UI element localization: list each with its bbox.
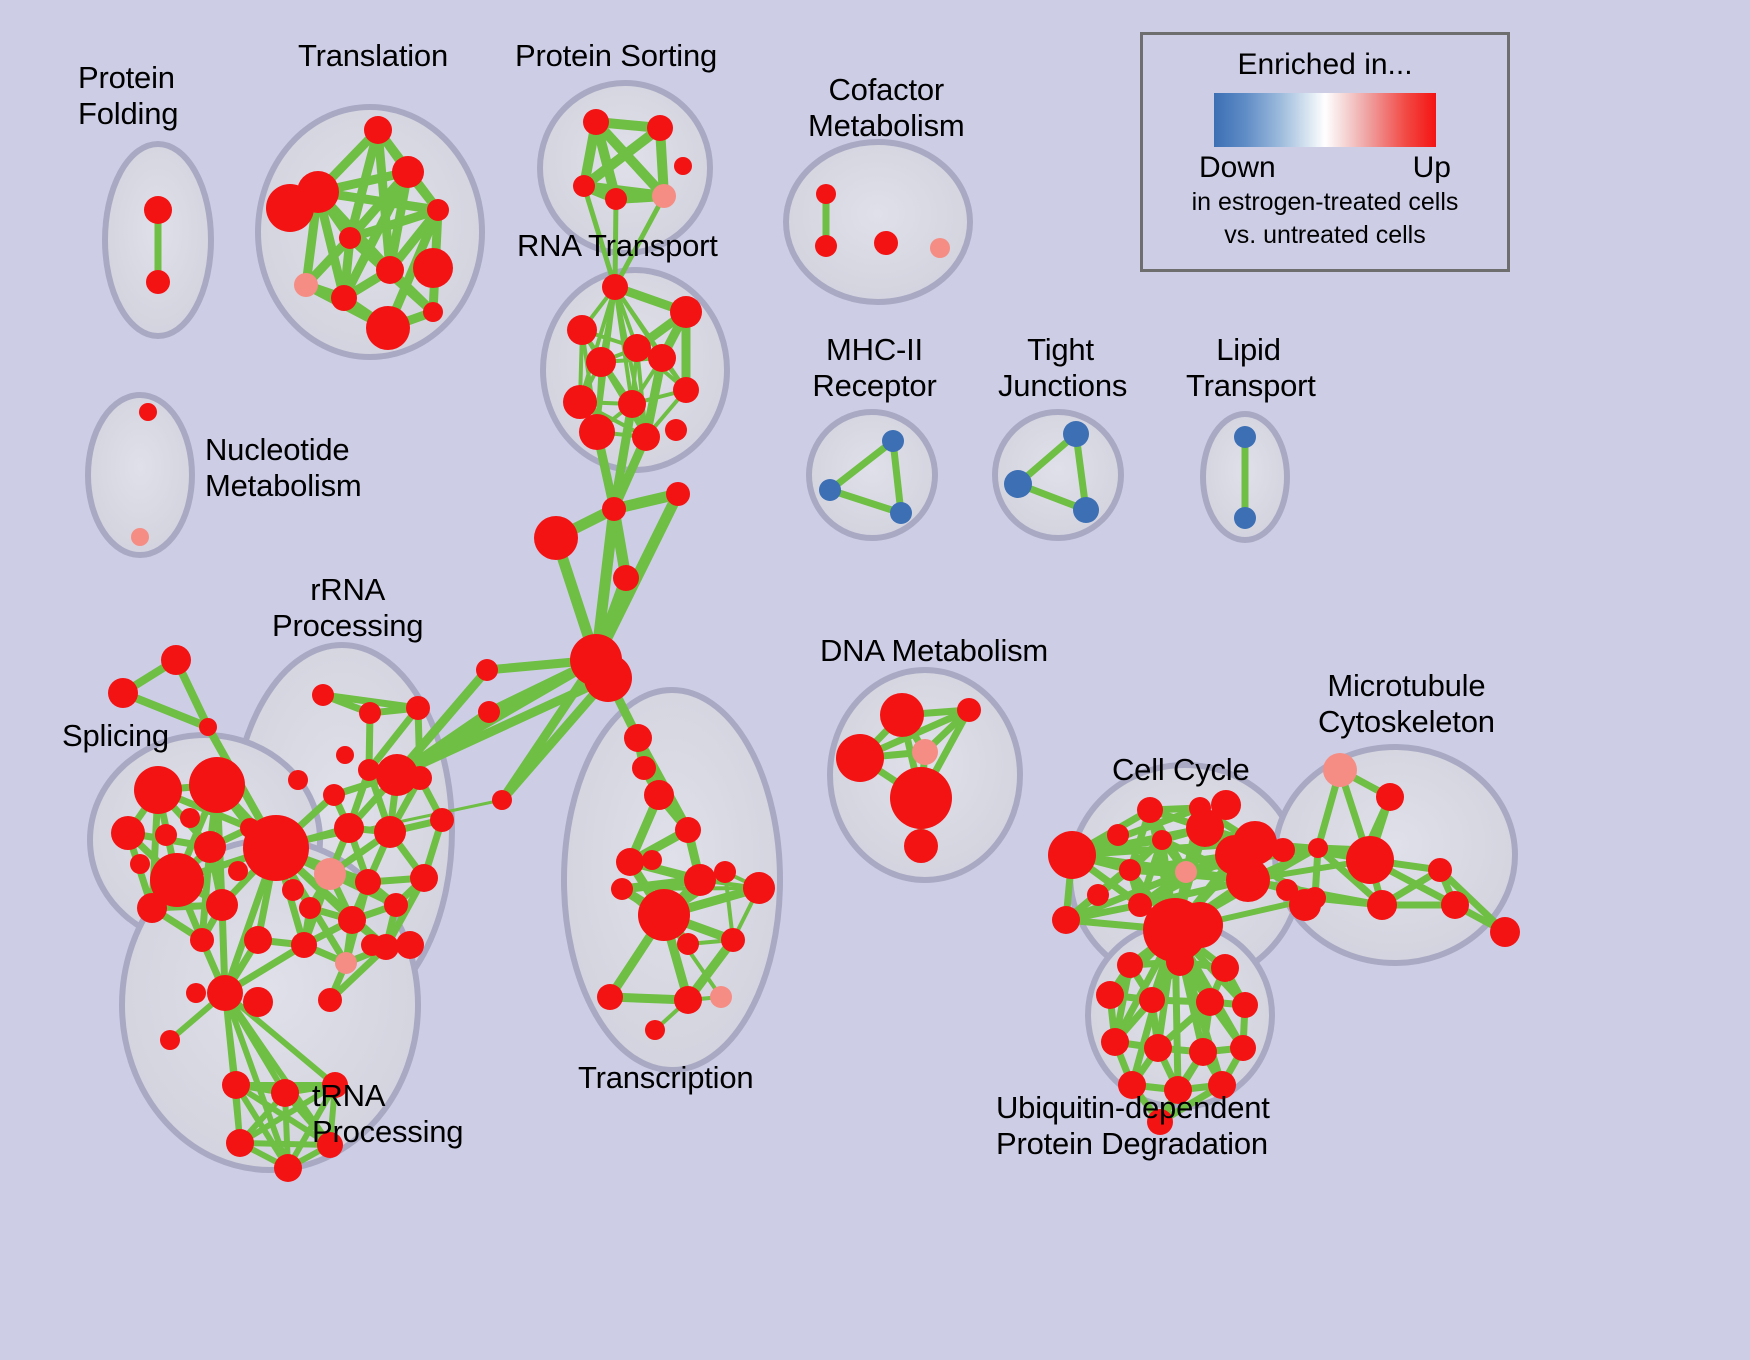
node xyxy=(364,116,392,144)
node xyxy=(602,274,628,300)
node xyxy=(228,861,248,881)
node xyxy=(613,565,639,591)
node xyxy=(652,184,676,208)
node xyxy=(1189,1038,1217,1066)
node xyxy=(1117,952,1143,978)
node xyxy=(408,766,432,790)
node xyxy=(396,931,424,959)
node xyxy=(890,502,912,524)
node xyxy=(674,157,692,175)
node xyxy=(665,419,687,441)
node xyxy=(1152,830,1172,850)
node xyxy=(1323,753,1357,787)
node xyxy=(1118,1071,1146,1099)
node xyxy=(1211,790,1241,820)
node xyxy=(1196,988,1224,1016)
node xyxy=(476,659,498,681)
node xyxy=(180,808,200,828)
node xyxy=(1144,1034,1172,1062)
node xyxy=(1234,507,1256,529)
node xyxy=(1063,421,1089,447)
node xyxy=(1490,917,1520,947)
node xyxy=(673,377,699,403)
node xyxy=(1211,954,1239,982)
node xyxy=(1304,887,1326,909)
node xyxy=(194,831,226,863)
node xyxy=(139,403,157,421)
hull-mhc xyxy=(809,412,935,538)
node xyxy=(1271,838,1295,862)
node xyxy=(161,645,191,675)
node xyxy=(710,986,732,1008)
node xyxy=(586,347,616,377)
node xyxy=(1048,831,1096,879)
node xyxy=(317,1132,343,1158)
node xyxy=(222,1071,250,1099)
node xyxy=(1107,824,1129,846)
node xyxy=(743,872,775,904)
node xyxy=(271,1079,299,1107)
node xyxy=(137,893,167,923)
node xyxy=(155,824,177,846)
node xyxy=(144,196,172,224)
node xyxy=(912,739,938,765)
node xyxy=(314,858,346,890)
node xyxy=(957,698,981,722)
node xyxy=(334,813,364,843)
node xyxy=(299,897,321,919)
node xyxy=(294,273,318,297)
node xyxy=(882,430,904,452)
node xyxy=(335,952,357,974)
node xyxy=(339,227,361,249)
node xyxy=(573,175,595,197)
node xyxy=(648,344,676,372)
node xyxy=(427,199,449,221)
node xyxy=(1234,426,1256,448)
node xyxy=(1441,891,1469,919)
node xyxy=(644,780,674,810)
node xyxy=(266,184,314,232)
node xyxy=(1004,470,1032,498)
node xyxy=(645,1020,665,1040)
legend-high-label: Up xyxy=(1413,151,1451,185)
node xyxy=(430,808,454,832)
node xyxy=(318,988,342,1012)
legend-low-label: Down xyxy=(1199,151,1276,185)
node xyxy=(684,864,716,896)
node xyxy=(874,231,898,255)
node xyxy=(1096,981,1124,1009)
node xyxy=(583,109,609,135)
node xyxy=(1230,1035,1256,1061)
legend-subtitle-line-2: vs. untreated cells xyxy=(1143,220,1507,251)
legend-color-gradient-bar xyxy=(1214,93,1436,147)
node xyxy=(1208,1071,1236,1099)
node xyxy=(384,893,408,917)
node xyxy=(189,757,245,813)
node xyxy=(880,693,924,737)
node xyxy=(1164,1076,1192,1104)
node xyxy=(602,497,626,521)
node xyxy=(423,302,443,322)
node xyxy=(1346,836,1394,884)
node xyxy=(131,528,149,546)
node xyxy=(413,248,453,288)
node xyxy=(1119,859,1141,881)
node xyxy=(816,184,836,204)
node xyxy=(376,256,404,284)
node xyxy=(815,235,837,257)
node xyxy=(244,926,272,954)
node xyxy=(336,746,354,764)
node xyxy=(677,933,699,955)
node xyxy=(1376,783,1404,811)
node xyxy=(1147,1109,1173,1135)
node xyxy=(366,306,410,350)
node xyxy=(406,696,430,720)
hull-cofactor xyxy=(786,142,970,302)
node xyxy=(478,701,500,723)
node xyxy=(616,848,644,876)
node xyxy=(312,684,334,706)
node xyxy=(1073,497,1099,523)
node xyxy=(492,790,512,810)
node xyxy=(160,1030,180,1050)
node xyxy=(675,817,701,843)
node xyxy=(666,482,690,506)
node xyxy=(226,1129,254,1157)
node xyxy=(674,986,702,1014)
node xyxy=(670,296,702,328)
node xyxy=(146,270,170,294)
node xyxy=(111,816,145,850)
node xyxy=(1139,987,1165,1013)
node xyxy=(322,1072,348,1098)
node xyxy=(714,861,736,883)
network-canvas: ProteinFolding Translation Protein Sorti… xyxy=(0,0,1750,1360)
node xyxy=(274,1154,302,1182)
node xyxy=(359,702,381,724)
node xyxy=(361,934,383,956)
node xyxy=(374,816,406,848)
node xyxy=(323,784,345,806)
node xyxy=(618,390,646,418)
node xyxy=(632,756,656,780)
node xyxy=(1052,906,1080,934)
node xyxy=(206,889,238,921)
node xyxy=(567,315,597,345)
node xyxy=(611,878,633,900)
node xyxy=(134,766,182,814)
node xyxy=(190,928,214,952)
node xyxy=(647,115,673,141)
node xyxy=(638,889,690,941)
node xyxy=(282,879,304,901)
legend-subtitle-line-1: in estrogen-treated cells xyxy=(1143,187,1507,218)
node xyxy=(392,156,424,188)
node xyxy=(584,654,632,702)
node xyxy=(291,932,317,958)
node xyxy=(410,864,438,892)
node xyxy=(207,975,243,1011)
node xyxy=(1175,861,1197,883)
node xyxy=(597,984,623,1010)
node xyxy=(836,734,884,782)
node xyxy=(186,983,206,1003)
node xyxy=(1226,858,1270,902)
node xyxy=(632,423,660,451)
node xyxy=(108,678,138,708)
node xyxy=(563,385,597,419)
node xyxy=(1166,948,1194,976)
node xyxy=(288,770,308,790)
node xyxy=(623,334,651,362)
node xyxy=(721,928,745,952)
node xyxy=(355,869,381,895)
node xyxy=(1367,890,1397,920)
node xyxy=(930,238,950,258)
node xyxy=(199,718,217,736)
node xyxy=(819,479,841,501)
node xyxy=(1137,797,1163,823)
node xyxy=(624,724,652,752)
node xyxy=(338,906,366,934)
node xyxy=(642,850,662,870)
node xyxy=(605,188,627,210)
node xyxy=(579,414,615,450)
node xyxy=(1232,992,1258,1018)
node xyxy=(1308,838,1328,858)
node xyxy=(331,285,357,311)
legend-panel: Enriched in... Down Up in estrogen-treat… xyxy=(1140,32,1510,272)
node xyxy=(243,987,273,1017)
node xyxy=(1087,884,1109,906)
node xyxy=(1177,902,1223,948)
node xyxy=(890,767,952,829)
legend-title: Enriched in... xyxy=(1143,48,1507,82)
node xyxy=(904,829,938,863)
node xyxy=(243,815,309,881)
node xyxy=(1428,858,1452,882)
node xyxy=(130,854,150,874)
node xyxy=(534,516,578,560)
node xyxy=(1101,1028,1129,1056)
